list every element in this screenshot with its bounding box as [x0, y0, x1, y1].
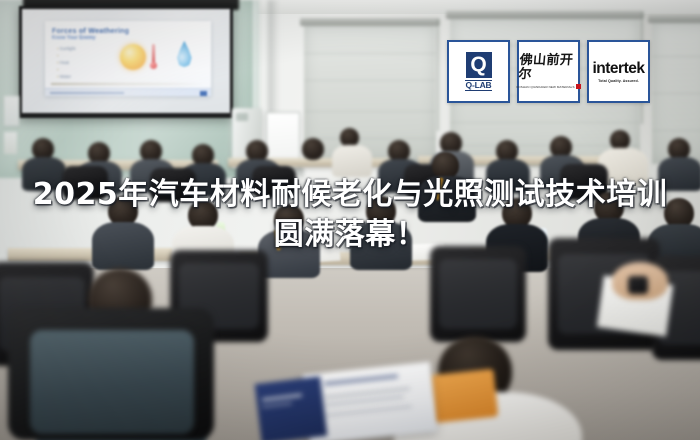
slide-bullet-spacer: [57, 66, 76, 73]
foshan-subtitle: FOSHAN QIANKAIER NEW MATERIALS: [516, 85, 574, 89]
slide-subtitle: Know Your Enemy: [52, 35, 96, 41]
slide-title: Forces of Weathering: [52, 26, 129, 35]
projection-screen: Forces of Weathering Know Your Enemy Sun…: [19, 6, 233, 118]
headline-line-1: 2025年汽车材料耐候老化与光照测试技术培训: [0, 176, 700, 214]
wall-poster: [4, 96, 19, 126]
q-lab-mark-icon: Q: [466, 52, 492, 78]
slide-bullet: Heat: [57, 59, 76, 66]
banner-image: Forces of Weathering Know Your Enemy Sun…: [0, 0, 700, 440]
foshan-wordmark: 佛山前开尔: [518, 54, 579, 82]
slide-bullet-list: Sunlight Heat Water: [57, 45, 76, 80]
slide-bullet: Sunlight: [57, 45, 76, 52]
foshan-subtitle-row: FOSHAN QIANKAIER NEW MATERIALS: [516, 84, 580, 89]
intertek-tagline: Total Quality. Assured.: [598, 79, 639, 83]
slide-footer-bar: [45, 88, 211, 96]
sun-icon: [120, 44, 146, 70]
office-chair: [430, 246, 526, 342]
foreground-attendee-back: [30, 330, 194, 434]
wall-poster: [4, 132, 17, 154]
slide-bullet-spacer: [57, 52, 76, 59]
slide-footnote: [51, 83, 205, 85]
wristwatch: [628, 276, 648, 294]
logo-foshan-qiankaier: 佛山前开尔 FOSHAN QIANKAIER NEW MATERIALS: [517, 40, 580, 103]
headline: 2025年汽车材料耐候老化与光照测试技术培训 圆满落幕！: [0, 176, 700, 256]
red-seal-icon: [576, 84, 581, 89]
q-lab-wordmark: Q-LAB: [465, 80, 493, 91]
slide-bullet: Water: [57, 73, 76, 80]
booklet-cover: [255, 376, 328, 440]
q-lab-letter: Q: [470, 55, 486, 75]
headline-line-2: 圆满落幕！: [0, 214, 700, 256]
thermometer-icon: [151, 44, 156, 69]
intertek-wordmark: intertek: [593, 61, 645, 77]
lanyard-strap: [428, 369, 499, 424]
logo-intertek: intertek Total Quality. Assured.: [587, 40, 650, 103]
window-blind: [304, 25, 436, 163]
logo-q-lab: Q Q-LAB: [447, 40, 510, 103]
water-drop-icon: [176, 41, 192, 67]
sponsor-logo-strip: Q Q-LAB 佛山前开尔 FOSHAN QIANKAIER NEW MATER…: [447, 40, 650, 103]
presentation-slide: Forces of Weathering Know Your Enemy Sun…: [45, 21, 211, 96]
